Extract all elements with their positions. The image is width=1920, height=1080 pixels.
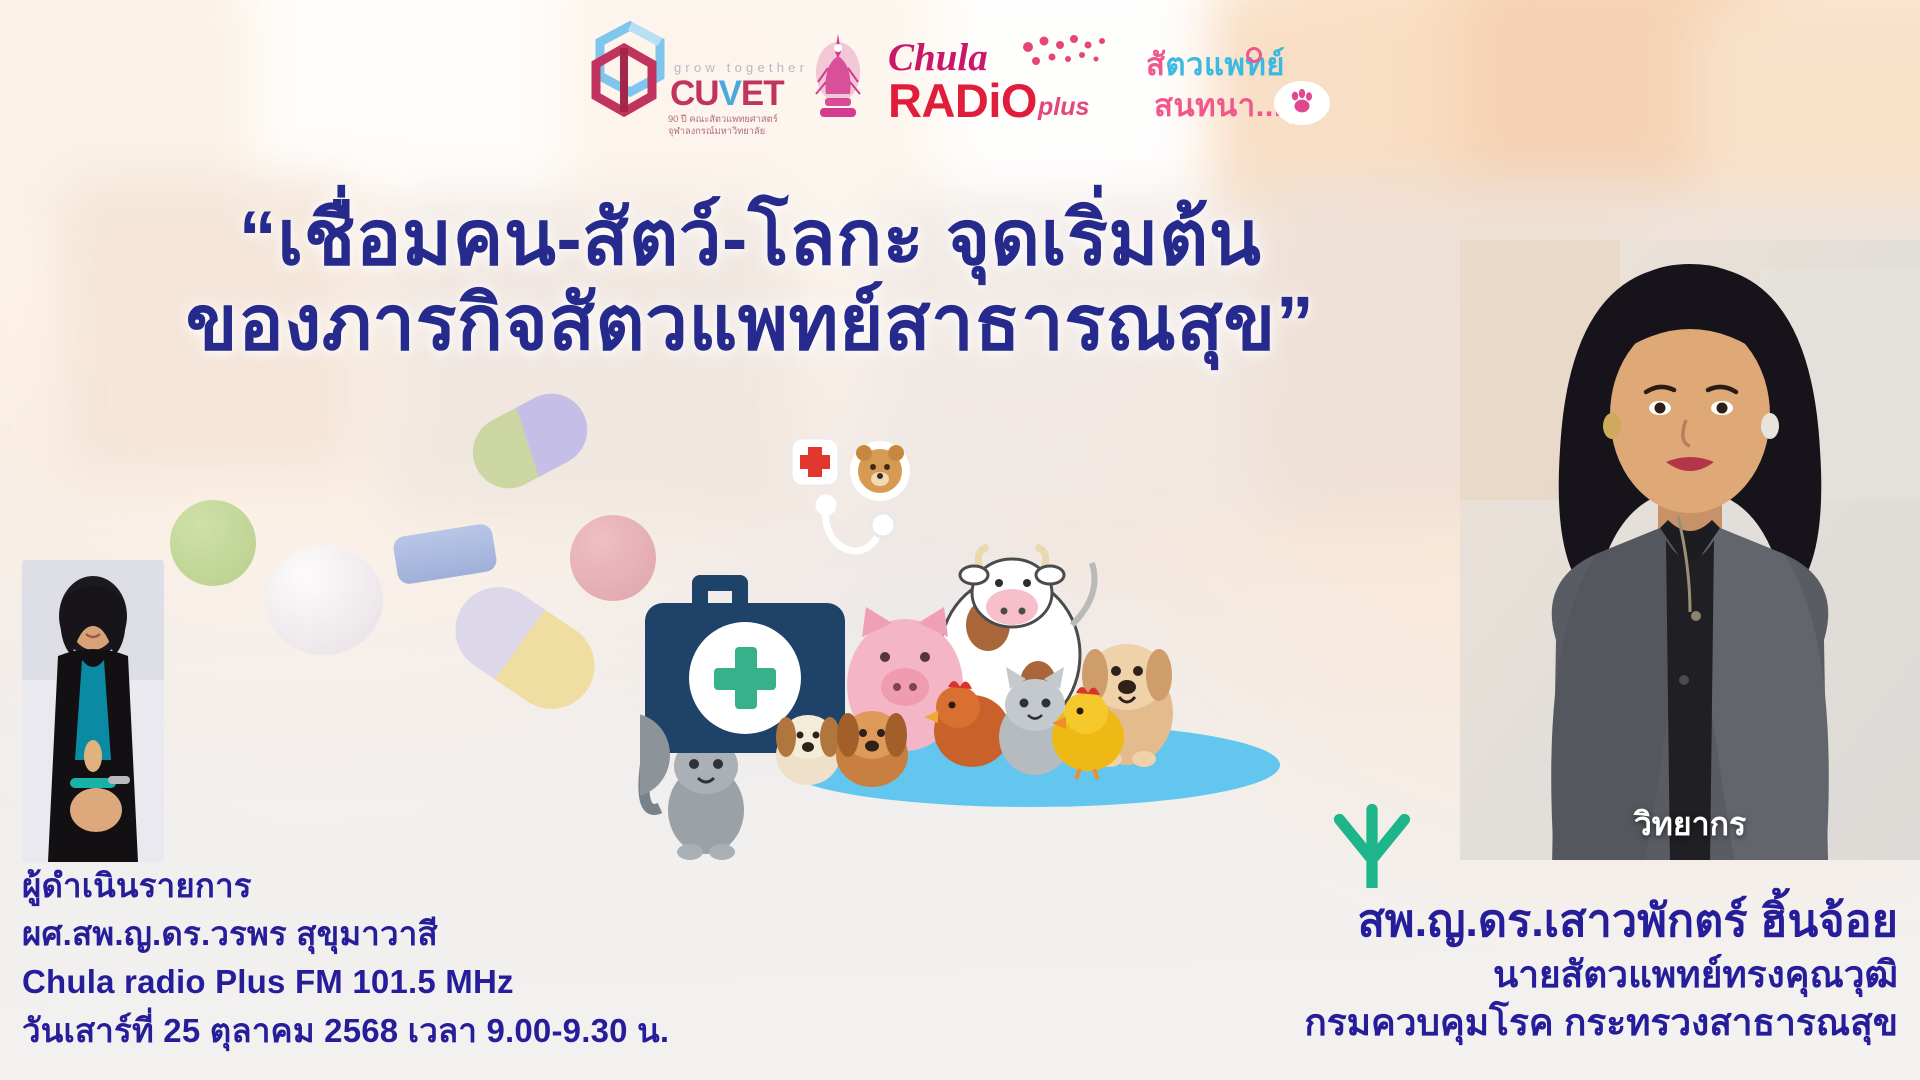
cuvet-leaf-mark-icon xyxy=(584,18,676,122)
paw-print-icon xyxy=(1288,89,1316,115)
brown-dog-icon xyxy=(836,711,908,787)
poster-title: “เชื่อมคน-สัตว์-โลกะ จุดเริ่มต้น ของภารก… xyxy=(0,196,1500,366)
cuvet-sublabel: 90 ปี คณะสัตวแพทยศาสตร์ จุฬาลงกรณ์มหาวิท… xyxy=(668,114,778,137)
speaker-photo: วิทยากร xyxy=(1460,240,1920,860)
chula-phra-kiao-emblem-icon xyxy=(814,28,862,132)
logo-row: grow together CUVET 90 ปี คณะสัตวแพทยศาส… xyxy=(0,6,1920,154)
host-schedule: วันเสาร์ที่ 25 ตุลาคม 2568 เวลา 9.00-9.3… xyxy=(22,1007,669,1055)
speaker-info-block: สพ.ญ.ดร.เสาวพักตร์ ฮิ้นจ้อย นายสัตวแพทย์… xyxy=(1304,892,1898,1047)
pill-white-tablet xyxy=(265,545,383,655)
cuvet-wordmark: CUVET xyxy=(670,74,784,114)
cuvet-tagline: grow together xyxy=(674,60,808,75)
title-line-1: “เชื่อมคน-สัตว์-โลกะ จุดเริ่มต้น xyxy=(239,196,1262,281)
pill-blue-tablet xyxy=(392,522,498,585)
heart-o-accent-icon xyxy=(1246,47,1262,63)
host-name: ผศ.สพ.ญ.ดร.วรพร สุขุมาวาสี xyxy=(22,910,669,958)
vet-talk-line2: สนทนา... xyxy=(1154,80,1283,130)
speaker-position: นายสัตวแพทย์ทรงคุณวุฒิ xyxy=(1304,951,1898,999)
bear-doctor-icon xyxy=(850,441,910,501)
cuvet-logo: grow together CUVET 90 ปี คณะสัตวแพทยศาส… xyxy=(578,10,788,150)
vet-talk-program-logo: สัตวแพทย์ สนทนา... xyxy=(1146,25,1342,135)
host-info-block: ผู้ดำเนินรายการ ผศ.สพ.ญ.ดร.วรพร สุขุมาวา… xyxy=(22,862,669,1055)
host-role: ผู้ดำเนินรายการ xyxy=(22,862,669,910)
host-station: Chula radio Plus FM 101.5 MHz xyxy=(22,958,669,1006)
speaker-role-label: วิทยากร xyxy=(1460,799,1920,850)
speaker-organization: กรมควบคุมโรค กระทรวงสาธารณสุข xyxy=(1304,999,1898,1047)
beagle-icon xyxy=(776,715,840,785)
poster-canvas: grow together CUVET 90 ปี คณะสัตวแพทยศาส… xyxy=(0,0,1920,1080)
veterinary-illustration xyxy=(640,425,1340,825)
speaker-name: สพ.ญ.ดร.เสาวพักตร์ ฮิ้นจ้อย xyxy=(1304,892,1898,951)
plus-wordmark: plus xyxy=(1038,93,1089,122)
pill-green-tablet xyxy=(170,500,256,586)
stethoscope-icon xyxy=(819,498,895,551)
chula-radio-plus-logo: Chula RADiO plus xyxy=(888,27,1120,133)
pill-yellow-capsule xyxy=(439,570,611,725)
medical-cross-icon xyxy=(792,439,838,485)
host-photo xyxy=(22,560,164,862)
title-line-2: ของภารกิจสัตวแพทย์สาธารณสุข” xyxy=(0,281,1500,366)
radio-wordmark: RADiO xyxy=(888,73,1037,128)
